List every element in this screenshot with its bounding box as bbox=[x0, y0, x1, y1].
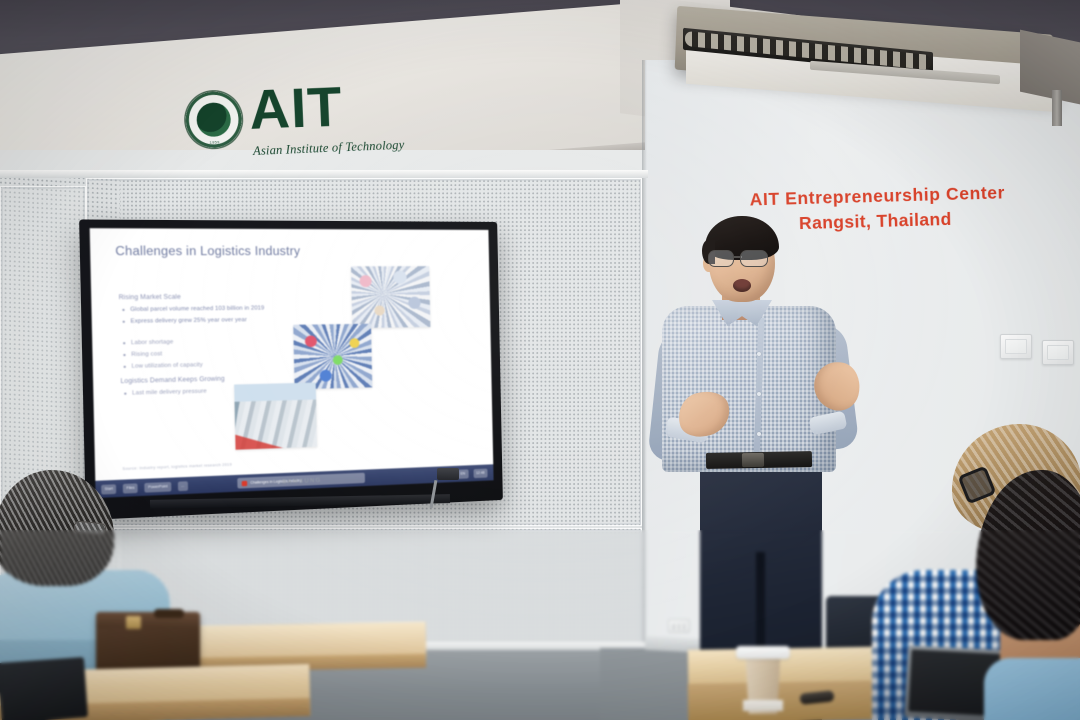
laptop-left[interactable] bbox=[0, 657, 88, 720]
presenter-shirt-button bbox=[757, 392, 761, 396]
slide-image-parcel-pile bbox=[351, 266, 430, 328]
leather-bag-strap bbox=[154, 609, 184, 618]
taskbar-files-button[interactable]: Files bbox=[123, 483, 138, 493]
wall-rail-top bbox=[0, 170, 648, 178]
ait-logo: 1959 AIT Asian Institute of Technology bbox=[184, 79, 417, 171]
taskbar-tray[interactable]: EN 12:48 bbox=[457, 468, 487, 478]
presenter-shirt-button bbox=[757, 432, 761, 436]
slide-bullet: Global parcel volume reached 103 billion… bbox=[130, 305, 308, 313]
ait-seal-year: 1959 bbox=[187, 138, 243, 145]
presenter-shirt bbox=[662, 306, 836, 472]
wall-switch-2[interactable] bbox=[1042, 340, 1074, 365]
presenter-glasses-left-lens bbox=[708, 250, 734, 267]
slide-section-heading: Rising Market Scale bbox=[119, 293, 308, 301]
presentation-room-photo: 1959 AIT Asian Institute of Technology A… bbox=[0, 0, 1080, 720]
presenter-shirt-button bbox=[757, 352, 761, 356]
presenter-glasses-right-lens bbox=[740, 250, 768, 267]
ait-seal-icon: 1959 bbox=[185, 91, 243, 149]
coffee-cup-base bbox=[743, 700, 783, 711]
display-ports bbox=[437, 468, 459, 480]
taskbar-clock[interactable]: 12:48 bbox=[473, 468, 488, 478]
slide: Challenges in Logistics Industry Rising … bbox=[90, 228, 494, 498]
wall-switch-1[interactable] bbox=[1000, 334, 1032, 359]
presenter-mouth bbox=[733, 279, 751, 292]
taskbar-start-button[interactable]: Start bbox=[101, 484, 116, 494]
wall-corner bbox=[642, 60, 647, 720]
ait-tagline: Asian Institute of Technology bbox=[253, 138, 405, 159]
leather-bag-clasp bbox=[126, 616, 141, 629]
taskbar-more-button[interactable]: ... bbox=[177, 481, 187, 491]
presenter-belt-buckle bbox=[742, 453, 764, 467]
slide-image-conveyor-belt bbox=[234, 383, 317, 450]
slide-bullet: Express delivery grew 25% year over year bbox=[130, 316, 308, 325]
glasses-icon bbox=[706, 250, 778, 267]
venue-signage: AIT Entrepreneurship Center Rangsit, Tha… bbox=[749, 183, 1000, 236]
taskbar-powerpoint-button[interactable]: PowerPoint bbox=[145, 481, 171, 492]
slide-image-sorting-center bbox=[293, 324, 372, 390]
leather-bag-flap bbox=[96, 612, 200, 628]
ait-acronym: AIT bbox=[248, 78, 343, 138]
wall-outlet[interactable] bbox=[668, 619, 690, 633]
display-screen[interactable]: Challenges in Logistics Industry Rising … bbox=[90, 228, 494, 498]
slide-footnote: Source: Industry report, logistics marke… bbox=[122, 456, 392, 471]
powerpoint-icon bbox=[242, 480, 248, 485]
slide-title: Challenges in Logistics Industry bbox=[115, 245, 300, 258]
slide-bullet: Rising cost bbox=[131, 348, 309, 358]
audience-right2-shirt bbox=[984, 658, 1080, 720]
slide-bullet: Low utilization of capacity bbox=[131, 360, 309, 370]
coffee-cup-lid bbox=[736, 646, 790, 659]
air-conditioner-side bbox=[1020, 30, 1080, 105]
air-conditioner-pipe bbox=[1052, 90, 1062, 126]
